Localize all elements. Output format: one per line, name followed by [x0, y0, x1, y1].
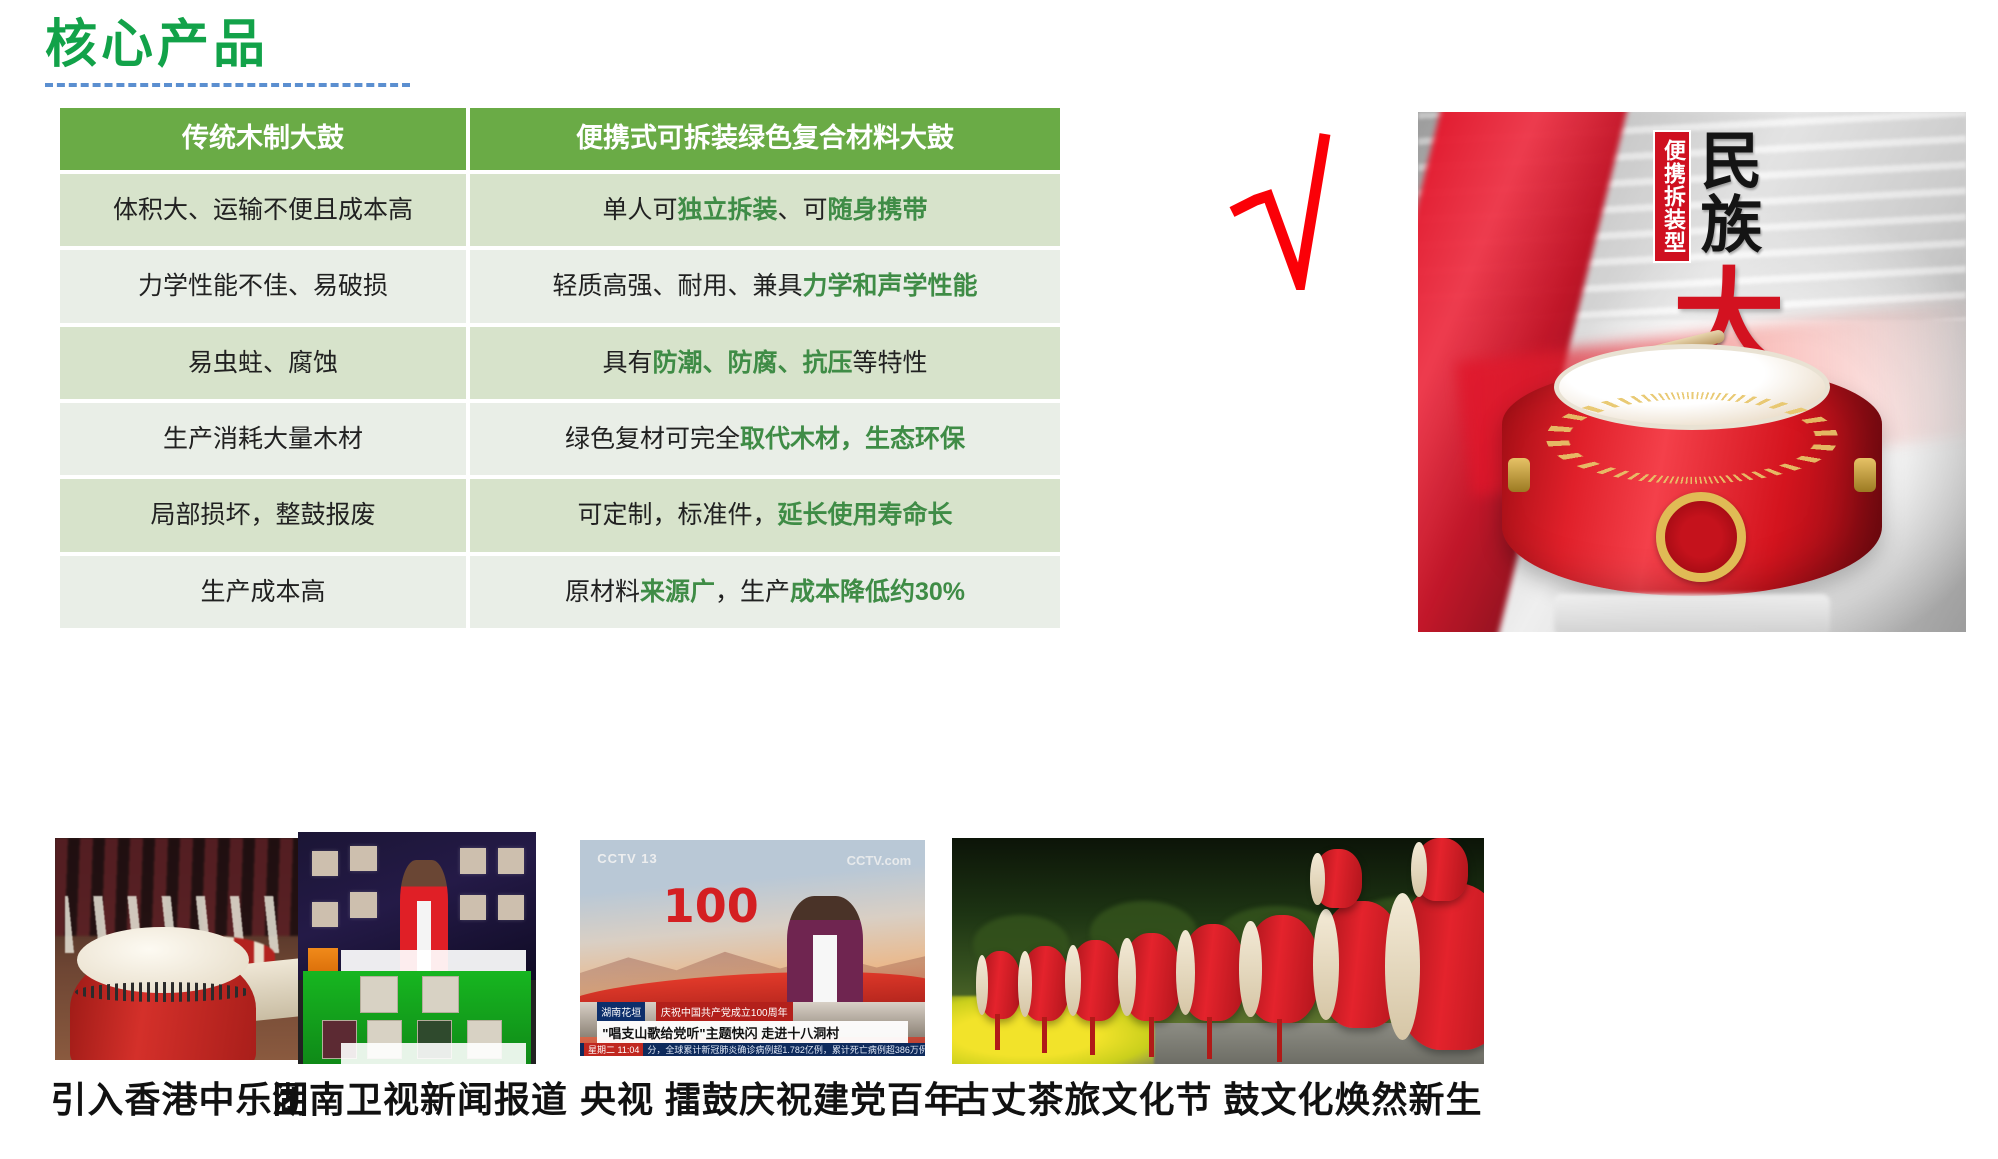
- drum: [979, 951, 1022, 1019]
- cell-composite: 单人可独立拆装、可随身携带: [470, 174, 1060, 246]
- topic-tag: 庆祝中国共产党成立100周年: [656, 1002, 793, 1021]
- table-row: 生产消耗大量木材 绿色复材可完全取代木材，生态环保: [60, 403, 1060, 475]
- hero-badge-label: 便携拆装型: [1653, 130, 1691, 263]
- text-segment: 绿色复材可完全: [565, 423, 740, 456]
- certificate-document: [422, 976, 460, 1013]
- text-segment: 单人可: [602, 194, 677, 227]
- drum: [1415, 838, 1468, 901]
- cell-traditional: 生产消耗大量木材: [60, 403, 466, 475]
- drum-stand: [1277, 1019, 1282, 1062]
- hero-title-top: 民族: [1696, 128, 1756, 256]
- hero-product-image: 便携拆装型 民族 大鼓: [1418, 112, 1966, 632]
- studio-monitor: [312, 902, 338, 928]
- drum: [1122, 933, 1181, 1021]
- drum-stand: [1042, 1017, 1047, 1053]
- drum-ring-ornament: [1656, 492, 1746, 582]
- highlight-segment: 随身携带: [828, 194, 928, 227]
- cell-composite: 绿色复材可完全取代木材，生态环保: [470, 403, 1060, 475]
- news-ticker-bar-bottom: [341, 1043, 527, 1064]
- photo-cctv-news: CCTV 13 CCTV.com 100 湖南花垣 庆祝中国共产党成立100周年…: [580, 840, 925, 1056]
- table-row: 体积大、运输不便且成本高 单人可独立拆装、可随身携带: [60, 174, 1060, 246]
- drum: [1181, 924, 1245, 1021]
- highlight-segment: 独立拆装: [677, 194, 777, 227]
- cell-traditional: 力学性能不佳、易破损: [60, 250, 466, 322]
- location-tag: 湖南花垣: [597, 1002, 645, 1021]
- text-segment: 轻质高强、耐用、兼具: [552, 270, 802, 303]
- cell-composite: 轻质高强、耐用、兼具力学和声学性能: [470, 250, 1060, 322]
- drum-stand: [1149, 1017, 1154, 1058]
- photo-tea-culture-festival: [952, 838, 1484, 1064]
- highlight-segment: 来源广: [640, 576, 715, 609]
- highlight-segment: 防潮、防腐、抗压: [652, 347, 852, 380]
- drum-base: [1554, 594, 1830, 632]
- party-centenary-logo: 100: [663, 883, 739, 952]
- highlight-segment: 取代木材，生态环保: [740, 423, 965, 456]
- drum: [1069, 940, 1122, 1021]
- studio-monitor: [350, 846, 376, 872]
- studio-monitor: [498, 895, 524, 921]
- text-segment: 具有: [602, 347, 652, 380]
- studio-monitor: [460, 848, 486, 874]
- news-ticker-bar: [341, 950, 527, 973]
- cctv-watermark: CCTV.com: [847, 853, 912, 868]
- cell-traditional: 局部损坏，整鼓报废: [60, 479, 466, 551]
- drum-illustration: [1502, 340, 1882, 632]
- cctv-channel-logo: CCTV 13: [597, 851, 657, 866]
- certificate-document: [360, 976, 398, 1013]
- text-segment: 原材料: [565, 576, 640, 609]
- table-row: 力学性能不佳、易破损 轻质高强、耐用、兼具力学和声学性能: [60, 250, 1060, 322]
- text-segment: ，生产: [715, 576, 790, 609]
- drum: [1394, 883, 1484, 1050]
- studio-monitor: [460, 895, 486, 921]
- photo-gallery-strip: 引入香港中乐团 湖南卫视新闻报道 CCTV 13 CCTV.com 100 湖南: [0, 818, 1998, 1159]
- checkmark-icon: [1228, 120, 1378, 290]
- studio-monitor: [350, 892, 376, 918]
- column-header-traditional: 传统木制大鼓: [60, 108, 466, 170]
- cell-traditional: 生产成本高: [60, 556, 466, 628]
- photo-caption: 古丈茶旅文化节 鼓文化焕然新生: [950, 1071, 1486, 1123]
- table-row: 生产成本高 原材料来源广，生产成本降低约30%: [60, 556, 1060, 628]
- highlight-segment: 力学和声学性能: [803, 270, 978, 303]
- table-row: 局部损坏，整鼓报废 可定制，标准件，延长使用寿命长: [60, 479, 1060, 551]
- crawl-timestamp: 星期二 11:04: [584, 1043, 643, 1056]
- text-segment: 、可: [778, 194, 828, 227]
- drum: [1314, 849, 1362, 908]
- drum-handle: [1854, 458, 1876, 492]
- drum-stand: [995, 1014, 1000, 1050]
- drum-stand: [1207, 1017, 1212, 1060]
- highlight-segment: 延长使用寿命长: [778, 499, 953, 532]
- photo-caption: 央视 擂鼓庆祝建党百年: [580, 1071, 925, 1123]
- cell-composite: 可定制，标准件，延长使用寿命长: [470, 479, 1060, 551]
- news-headline: "唱支山歌给党听"主题快闪 走进十八洞村: [597, 1021, 908, 1043]
- page-header: 核心产品: [45, 18, 410, 87]
- table-header-row: 传统木制大鼓 便携式可拆装绿色复合材料大鼓: [60, 108, 1060, 170]
- title-underline-divider: [45, 83, 410, 87]
- photo-hunan-tv-news: [298, 832, 536, 1064]
- column-header-composite: 便携式可拆装绿色复合材料大鼓: [470, 108, 1060, 170]
- table-row: 易虫蛀、腐蚀 具有防潮、防腐、抗压等特性: [60, 327, 1060, 399]
- product-comparison-table: 传统木制大鼓 便携式可拆装绿色复合材料大鼓 体积大、运输不便且成本高 单人可独立…: [60, 108, 1060, 628]
- drum: [1021, 946, 1069, 1021]
- cell-traditional: 体积大、运输不便且成本高: [60, 174, 466, 246]
- cell-composite: 具有防潮、防腐、抗压等特性: [470, 327, 1060, 399]
- highlight-segment: 成本降低约30%: [790, 576, 965, 609]
- drum: [1245, 915, 1319, 1023]
- cell-composite: 原材料来源广，生产成本降低约30%: [470, 556, 1060, 628]
- cell-traditional: 易虫蛀、腐蚀: [60, 327, 466, 399]
- text-segment: 可定制，标准件，: [577, 499, 777, 532]
- drum-handle: [1508, 458, 1530, 492]
- news-anchor: [787, 896, 863, 1017]
- photo-caption: 湖南卫视新闻报道: [270, 1071, 570, 1123]
- drum-rivets: [1546, 392, 1838, 484]
- photo-hk-chinese-orchestra: [55, 838, 300, 1060]
- studio-monitor: [312, 851, 338, 877]
- news-crawl-bar: 星期二 11:04分，全球累计新冠肺炎确诊病例超1.782亿例，累计死亡病例超3…: [580, 1043, 925, 1056]
- page-title: 核心产品: [45, 18, 410, 73]
- studio-monitor: [498, 848, 524, 874]
- text-segment: 等特性: [853, 347, 928, 380]
- drum-stand: [1090, 1017, 1095, 1055]
- crawl-text: 分，全球累计新冠肺炎确诊病例超1.782亿例，累计死亡病例超386万例。: [647, 1043, 925, 1056]
